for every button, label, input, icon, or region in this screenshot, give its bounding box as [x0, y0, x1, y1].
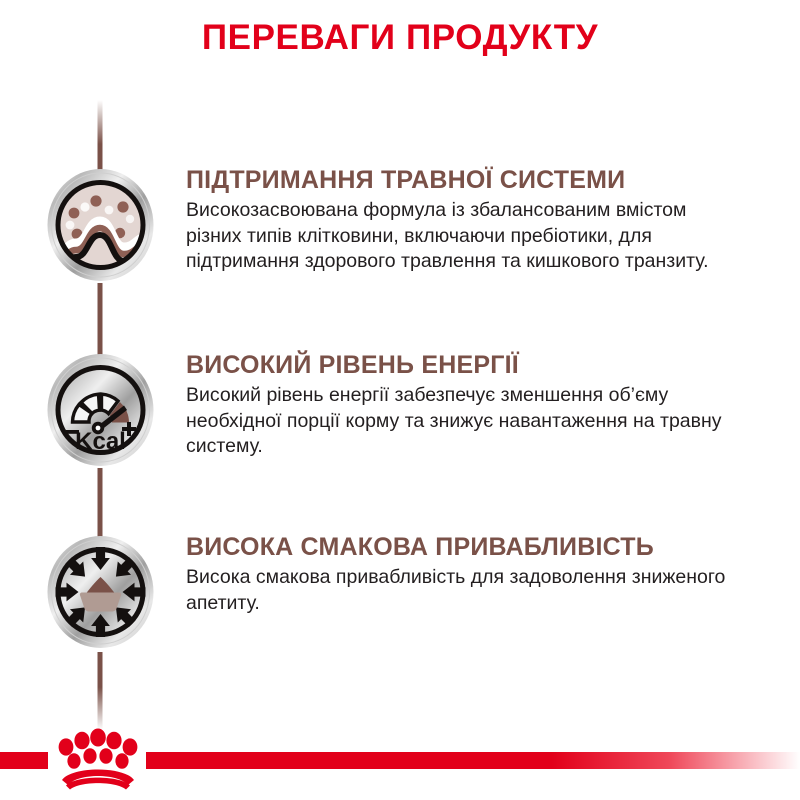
benefit-body: Висока смакова привабливість для задовол…: [186, 565, 726, 616]
benefit-heading: ВИСОКА СМАКОВА ПРИВАБЛИВІСТЬ: [186, 532, 746, 562]
benefit-heading: ПІДТРИМАННЯ ТРАВНОЇ СИСТЕМИ: [186, 165, 746, 195]
benefit-text-digestive: ПІДТРИМАННЯ ТРАВНОЇ СИСТЕМИ Високозасвою…: [186, 165, 746, 275]
benefit-body: Високий рівень енергії забезпечує зменше…: [186, 383, 726, 460]
kcal-gauge-icon: Kcal: [44, 350, 157, 470]
benefit-text-energy: ВИСОКИЙ РІВЕНЬ ЕНЕРГІЇ Високий рівень ен…: [186, 350, 746, 460]
brand-bar-right-stripe: [146, 752, 800, 769]
food-bowl-arrows-icon: [44, 532, 157, 652]
benefit-heading: ВИСОКИЙ РІВЕНЬ ЕНЕРГІЇ: [186, 350, 746, 380]
royal-canin-crown-logo: [50, 728, 146, 790]
digestive-wave-icon: [44, 165, 157, 285]
timeline-line-bottom: [98, 652, 103, 730]
benefit-body: Високозасвоювана формула із збалансовани…: [186, 198, 726, 275]
page-title: ПЕРЕВАГИ ПРОДУКТУ: [0, 16, 800, 60]
kcal-label: Kcal: [75, 428, 126, 455]
brand-bar: [0, 720, 800, 800]
benefit-text-palatability: ВИСОКА СМАКОВА ПРИВАБЛИВІСТЬ Висока смак…: [186, 532, 746, 616]
brand-bar-left-stripe: [0, 752, 48, 769]
